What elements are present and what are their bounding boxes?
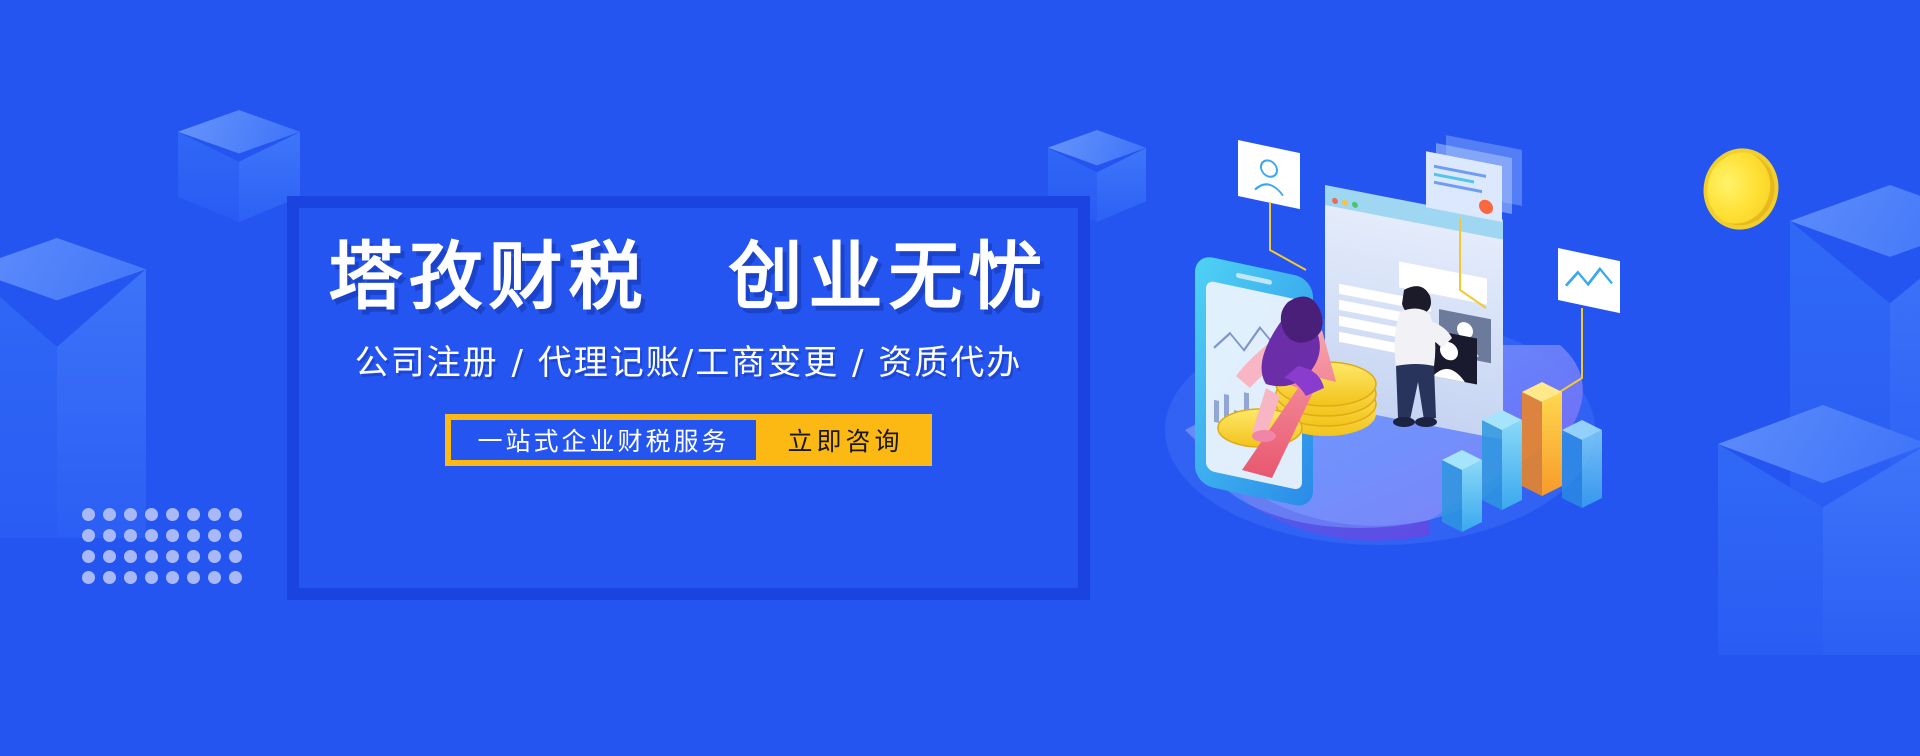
dot — [208, 529, 221, 542]
dot — [82, 508, 95, 521]
dot — [187, 571, 200, 584]
iso-pillar-right-icon — [1790, 185, 1920, 515]
dot — [229, 571, 242, 584]
iso-cube-bottom-right-icon — [1718, 405, 1920, 655]
dot — [229, 550, 242, 563]
dot — [124, 550, 137, 563]
dot — [145, 508, 158, 521]
dot — [166, 529, 179, 542]
one-stop-service-button[interactable]: 一站式企业财税服务 — [451, 420, 755, 460]
dot — [103, 550, 116, 563]
isometric-business-illustration — [1130, 130, 1650, 580]
cta-button-group: 一站式企业财税服务 立即咨询 — [445, 414, 931, 466]
dot — [145, 550, 158, 563]
dot — [124, 508, 137, 521]
service-list-subtitle: 公司注册 / 代理记账/工商变更 / 资质代办 — [355, 343, 1023, 384]
dot — [103, 508, 116, 521]
dot — [187, 508, 200, 521]
dot — [166, 550, 179, 563]
dot — [229, 508, 242, 521]
dot — [145, 529, 158, 542]
dot — [145, 571, 158, 584]
dot-grid-decoration — [78, 504, 246, 588]
dot — [229, 529, 242, 542]
dot — [82, 529, 95, 542]
dot — [124, 571, 137, 584]
dot — [208, 550, 221, 563]
iso-cube-left-icon — [0, 238, 146, 538]
dot — [166, 508, 179, 521]
page-title: 塔孜财税 创业无忧 — [329, 234, 1049, 321]
consult-now-label: 立即咨询 — [788, 422, 904, 458]
gold-coin-large-icon — [1690, 133, 1793, 245]
dot — [82, 571, 95, 584]
dot — [208, 571, 221, 584]
dot — [124, 529, 137, 542]
headline-text-block: 塔孜财税 创业无忧 公司注册 / 代理记账/工商变更 / 资质代办 一站式企业财… — [299, 208, 1078, 588]
dot — [166, 571, 179, 584]
dot — [187, 550, 200, 563]
dot — [103, 571, 116, 584]
dot — [103, 529, 116, 542]
consult-now-button[interactable]: 立即咨询 — [760, 420, 932, 460]
dot — [208, 508, 221, 521]
dot — [82, 550, 95, 563]
one-stop-service-label: 一站式企业财税服务 — [477, 422, 729, 458]
dot — [187, 529, 200, 542]
iso-cube-upper-left-icon — [178, 110, 300, 222]
marketing-banner: 塔孜财税 创业无忧 公司注册 / 代理记账/工商变更 / 资质代办 一站式企业财… — [0, 0, 1920, 756]
headline-frame: 塔孜财税 创业无忧 公司注册 / 代理记账/工商变更 / 资质代办 一站式企业财… — [287, 196, 1090, 600]
headline-frame-inner: 塔孜财税 创业无忧 公司注册 / 代理记账/工商变更 / 资质代办 一站式企业财… — [299, 208, 1078, 588]
